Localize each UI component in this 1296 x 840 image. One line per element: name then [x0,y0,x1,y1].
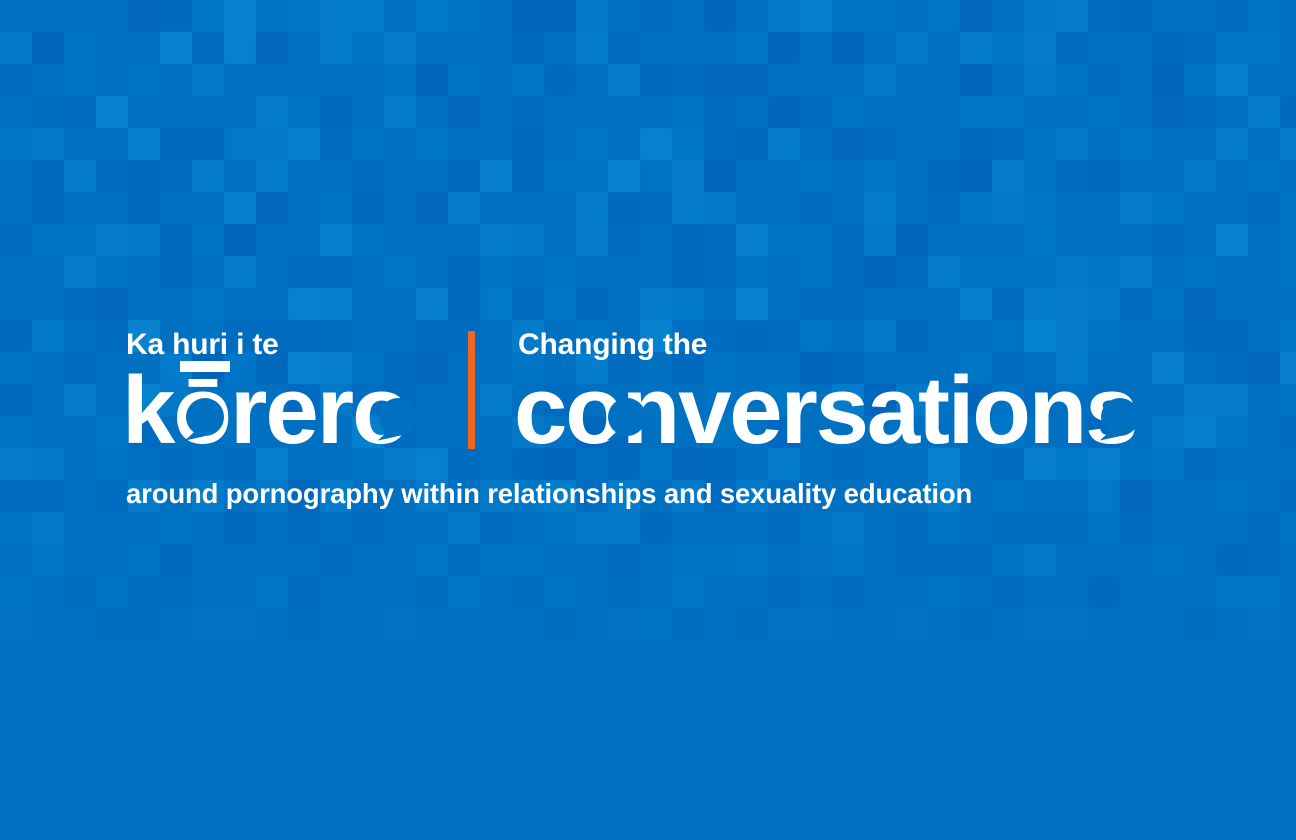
headline-maori: kōrero [122,369,452,459]
macron-bar [180,361,230,372]
headline-english: conversations [514,369,1296,459]
headline-english-text: conversations [514,357,1136,464]
bilingual-lockup: Ka huri i te Changing the kōrero convers… [126,325,1176,525]
headline-maori-text: kōrero [122,357,409,464]
orange-vertical-rule-icon [468,331,475,449]
banner-root: Ka huri i te Changing the kōrero convers… [0,0,1296,840]
subtitle-text: around pornography within relationships … [126,477,972,511]
